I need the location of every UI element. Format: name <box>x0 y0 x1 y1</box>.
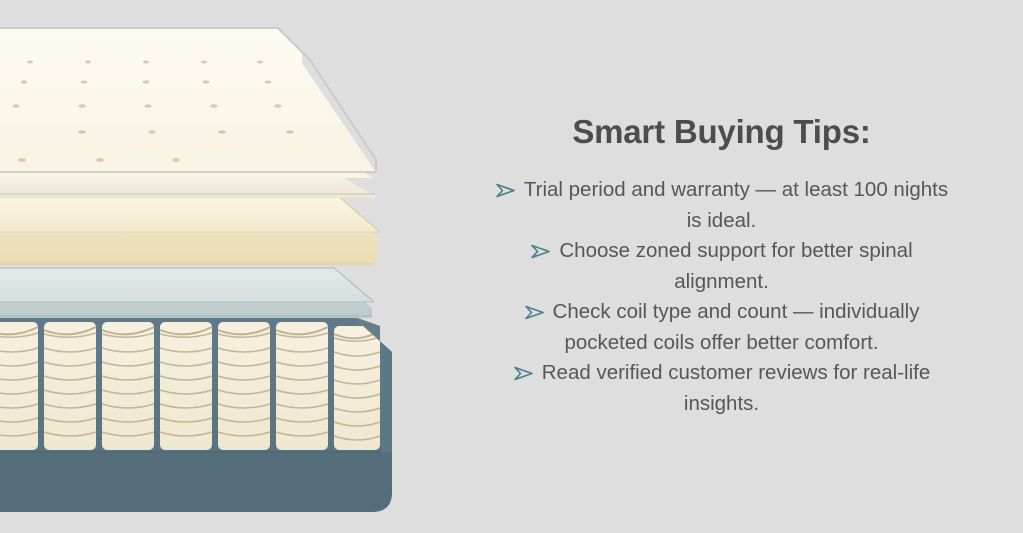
coil-pocket <box>0 322 38 450</box>
smart-buying-tips-panel: Smart Buying Tips: Trial period and warr… <box>420 0 1023 533</box>
list-item-text: Read verified customer reviews for real-… <box>542 361 931 416</box>
double-chevron-arrow-icon <box>530 238 552 268</box>
transition-foam-layer <box>0 268 374 318</box>
list-item-text: Choose zoned support for better spinal a… <box>559 239 912 294</box>
list-item-text: Trial period and warranty — at least 100… <box>524 178 948 233</box>
list-item: Choose zoned support for better spinal a… <box>491 236 953 297</box>
coil-pocket <box>160 322 212 450</box>
layered-mattress-illustration <box>0 0 420 533</box>
page-title: Smart Buying Tips: <box>572 114 870 150</box>
tips-list: Trial period and warranty — at least 100… <box>491 175 953 419</box>
double-chevron-arrow-icon <box>495 177 517 207</box>
list-item: Trial period and warranty — at least 100… <box>491 175 953 236</box>
coil-pocket <box>44 322 96 450</box>
memory-foam-layer <box>0 196 380 266</box>
quilted-top-layer <box>0 28 376 200</box>
infographic-canvas: Smart Buying Tips: Trial period and warr… <box>0 0 1023 533</box>
double-chevron-arrow-icon <box>513 360 535 390</box>
coil-pocket <box>334 326 380 450</box>
list-item: Read verified customer reviews for real-… <box>491 358 953 419</box>
double-chevron-arrow-icon <box>524 299 546 329</box>
list-item: Check coil type and count — individually… <box>491 297 953 358</box>
coil-pocket <box>218 322 270 450</box>
list-item-text: Check coil type and count — individually… <box>553 300 920 355</box>
coil-pocket <box>276 322 328 450</box>
coil-pocket <box>102 322 154 450</box>
